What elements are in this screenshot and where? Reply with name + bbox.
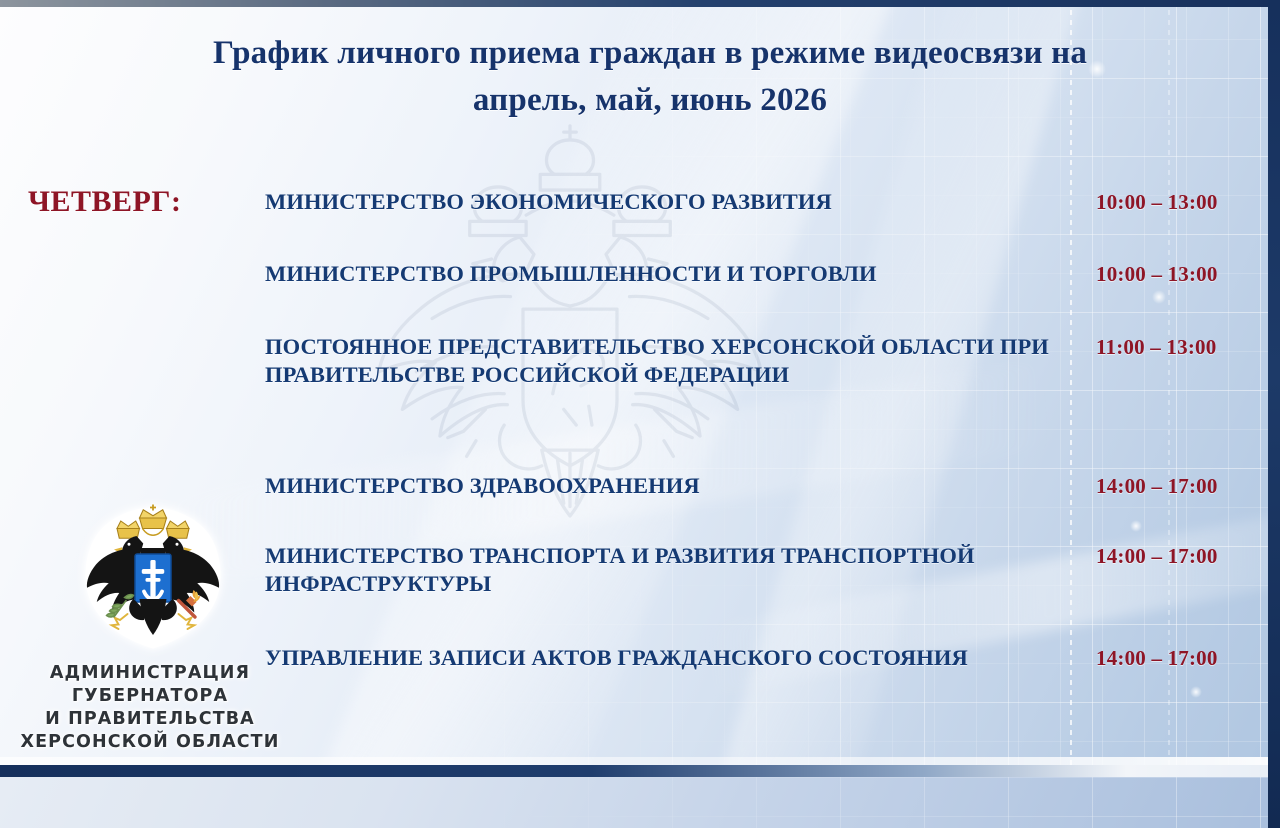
organization-name: МИНИСТЕРСТВО ТРАНСПОРТА И РАЗВИТИЯ ТРАНС… <box>265 542 1075 599</box>
reception-time: 11:00 – 13:00 <box>1096 335 1216 360</box>
organization-name: МИНИСТЕРСТВО ЗДРАВООХРАНЕНИЯ <box>265 472 1075 500</box>
organization-name: МИНИСТЕРСТВО ЭКОНОМИЧЕСКОГО РАЗВИТИЯ <box>265 188 1075 216</box>
page-title-line2: апрель, май, июнь 2026 <box>60 77 1240 124</box>
emblem-caption-line1: АДМИНИСТРАЦИЯ <box>2 662 298 685</box>
page-title: График личного приема граждан в режиме в… <box>60 30 1240 124</box>
slide-content: График личного приема граждан в режиме в… <box>0 0 1280 828</box>
emblem-caption-line3: И ПРАВИТЕЛЬСТВА <box>2 708 298 731</box>
emblem-caption-line2: ГУБЕРНАТОРА <box>2 685 298 708</box>
organization-name: ПОСТОЯННОЕ ПРЕДСТАВИТЕЛЬСТВО ХЕРСОНСКОЙ … <box>265 333 1075 390</box>
emblem-caption: АДМИНИСТРАЦИЯ ГУБЕРНАТОРА И ПРАВИТЕЛЬСТВ… <box>2 662 298 754</box>
kherson-coat-of-arms-icon <box>78 503 228 653</box>
organization-name: УПРАВЛЕНИЕ ЗАПИСИ АКТОВ ГРАЖДАНСКОГО СОС… <box>265 644 1075 672</box>
reception-time: 14:00 – 17:00 <box>1096 544 1218 569</box>
reception-time: 14:00 – 17:00 <box>1096 646 1218 671</box>
emblem-caption-line4: ХЕРСОНСКОЙ ОБЛАСТИ <box>2 731 298 754</box>
organization-name: МИНИСТЕРСТВО ПРОМЫШЛЕННОСТИ И ТОРГОВЛИ <box>265 260 1075 288</box>
page-title-line1: График личного приема граждан в режиме в… <box>213 35 1087 71</box>
reception-time: 10:00 – 13:00 <box>1096 190 1218 215</box>
reception-time: 10:00 – 13:00 <box>1096 262 1218 287</box>
day-label: ЧЕТВЕРГ: <box>28 185 181 219</box>
slide-canvas: График личного приема граждан в режиме в… <box>0 0 1280 828</box>
reception-time: 14:00 – 17:00 <box>1096 474 1218 499</box>
